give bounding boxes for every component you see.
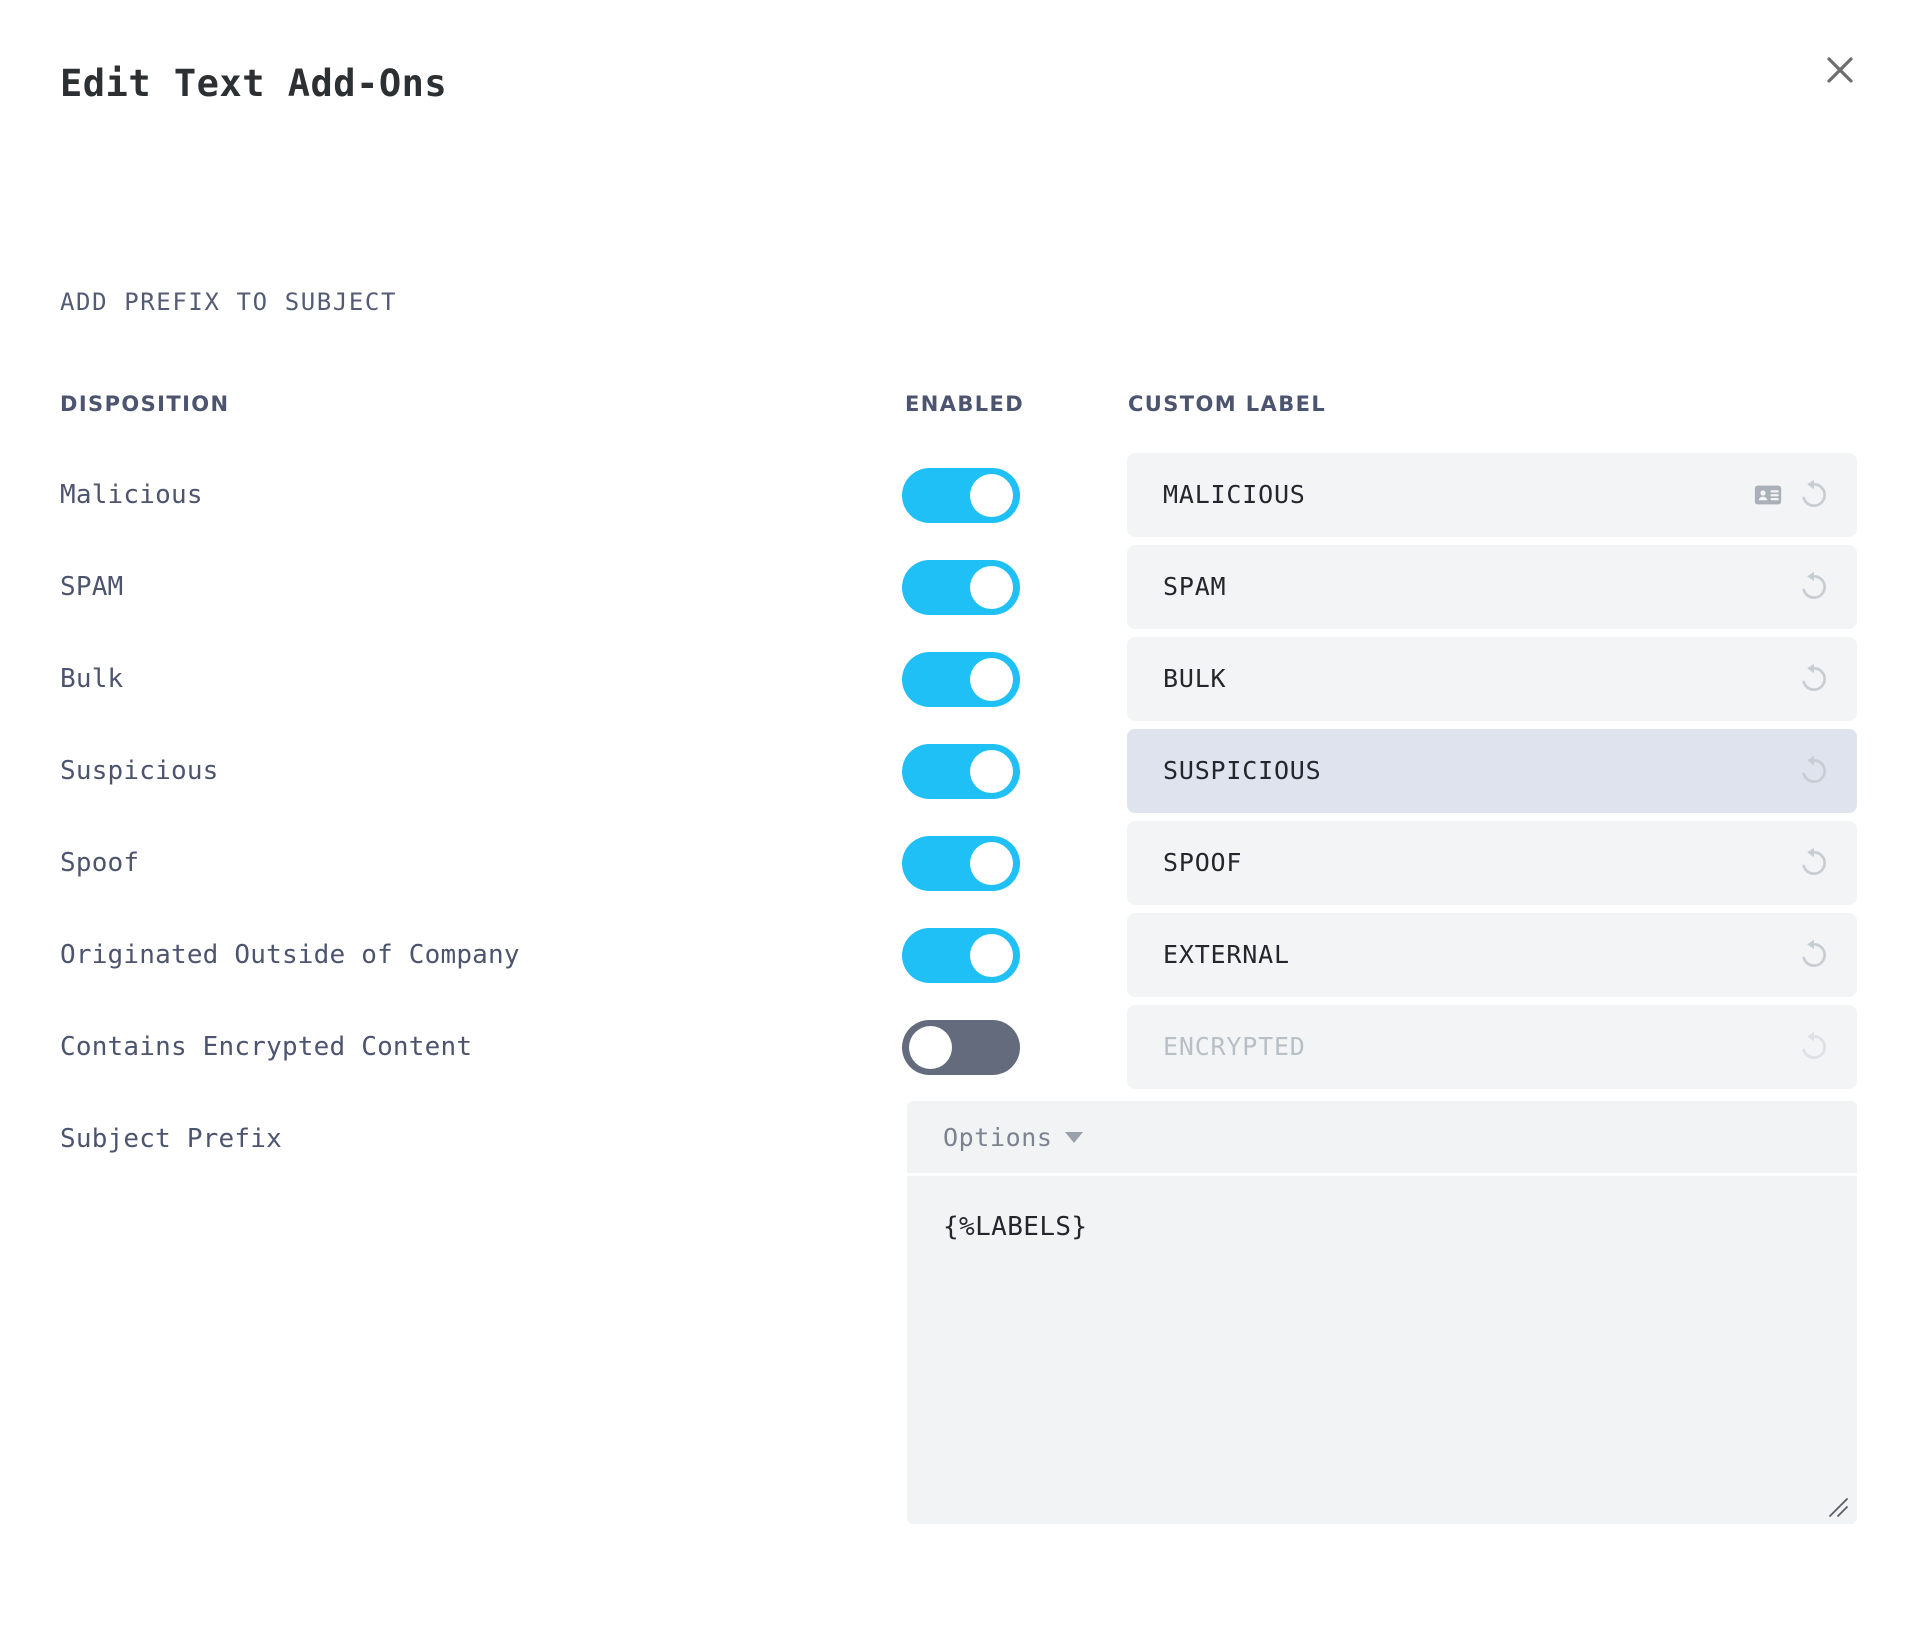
custom-label-input[interactable]: SUSPICIOUS: [1127, 729, 1857, 813]
table-row: Originated Outside of Company EXTERNAL: [0, 909, 1908, 1001]
disposition-label: Originated Outside of Company: [60, 909, 520, 1001]
custom-label-input[interactable]: SPAM: [1127, 545, 1857, 629]
column-header-enabled: ENABLED: [905, 392, 1024, 416]
custom-label-input[interactable]: MALICIOUS: [1127, 453, 1857, 537]
enabled-toggle[interactable]: [902, 560, 1020, 615]
toggle-knob: [970, 566, 1013, 609]
enabled-toggle[interactable]: [902, 468, 1020, 523]
field-icon-group: [1797, 913, 1831, 997]
custom-label-value: SPAM: [1163, 545, 1226, 629]
disposition-label: Suspicious: [60, 725, 219, 817]
page-title: Edit Text Add-Ons: [60, 62, 447, 105]
disposition-label: Contains Encrypted Content: [60, 1001, 472, 1093]
disposition-label: Spoof: [60, 817, 139, 909]
disposition-label: Malicious: [60, 449, 203, 541]
subject-prefix-label: Subject Prefix: [60, 1093, 282, 1185]
custom-label-value: BULK: [1163, 637, 1226, 721]
field-icon-group: [1753, 453, 1831, 537]
table-row: Malicious MALICIOUS: [0, 449, 1908, 541]
custom-label-input[interactable]: EXTERNAL: [1127, 913, 1857, 997]
subject-prefix-value: {%LABELS}: [943, 1212, 1087, 1242]
reset-icon[interactable]: [1797, 754, 1831, 788]
section-heading-add-prefix-to-subject: ADD PREFIX TO SUBJECT: [60, 288, 397, 316]
options-dropdown-button[interactable]: Options: [943, 1123, 1083, 1152]
disposition-label: Bulk: [60, 633, 123, 725]
toggle-knob: [970, 750, 1013, 793]
enabled-toggle[interactable]: [902, 744, 1020, 799]
subject-prefix-textarea[interactable]: {%LABELS}: [907, 1176, 1857, 1524]
edit-text-addons-dialog: Edit Text Add-Ons ADD PREFIX TO SUBJECT …: [0, 0, 1908, 1650]
enabled-toggle[interactable]: [902, 836, 1020, 891]
options-dropdown-label: Options: [943, 1123, 1053, 1152]
custom-label-value: SUSPICIOUS: [1163, 729, 1322, 813]
field-icon-group: [1797, 637, 1831, 721]
toggle-knob: [909, 1026, 952, 1069]
reset-icon[interactable]: [1797, 938, 1831, 972]
custom-label-value: MALICIOUS: [1163, 453, 1306, 537]
disposition-label: SPAM: [60, 541, 123, 633]
column-header-disposition: DISPOSITION: [60, 392, 230, 416]
reset-icon[interactable]: [1797, 478, 1831, 512]
custom-label-value: SPOOF: [1163, 821, 1242, 905]
custom-label-value: ENCRYPTED: [1163, 1005, 1306, 1089]
toggle-knob: [970, 474, 1013, 517]
field-icon-group: [1797, 1005, 1831, 1089]
enabled-toggle[interactable]: [902, 928, 1020, 983]
field-icon-group: [1797, 545, 1831, 629]
reset-icon[interactable]: [1797, 1030, 1831, 1064]
table-row: Contains Encrypted Content ENCRYPTED: [0, 1001, 1908, 1093]
contact-card-icon[interactable]: [1753, 480, 1783, 510]
table-row: Spoof SPOOF: [0, 817, 1908, 909]
table-row: Suspicious SUSPICIOUS: [0, 725, 1908, 817]
enabled-toggle[interactable]: [902, 1020, 1020, 1075]
reset-icon[interactable]: [1797, 570, 1831, 604]
table-row: Bulk BULK: [0, 633, 1908, 725]
field-icon-group: [1797, 821, 1831, 905]
resize-handle-icon[interactable]: [1823, 1492, 1849, 1518]
toggle-knob: [970, 658, 1013, 701]
close-button[interactable]: [1812, 42, 1868, 98]
table-row: SPAM SPAM: [0, 541, 1908, 633]
custom-label-input[interactable]: SPOOF: [1127, 821, 1857, 905]
subject-prefix-toolbar: Options: [907, 1101, 1857, 1173]
reset-icon[interactable]: [1797, 662, 1831, 696]
custom-label-input[interactable]: BULK: [1127, 637, 1857, 721]
enabled-toggle[interactable]: [902, 652, 1020, 707]
custom-label-value: EXTERNAL: [1163, 913, 1290, 997]
toggle-knob: [970, 842, 1013, 885]
reset-icon[interactable]: [1797, 846, 1831, 880]
column-header-custom-label: CUSTOM LABEL: [1128, 392, 1326, 416]
toggle-knob: [970, 934, 1013, 977]
custom-label-input: ENCRYPTED: [1127, 1005, 1857, 1089]
field-icon-group: [1797, 729, 1831, 813]
close-icon: [1825, 55, 1855, 85]
chevron-down-icon: [1065, 1132, 1083, 1143]
